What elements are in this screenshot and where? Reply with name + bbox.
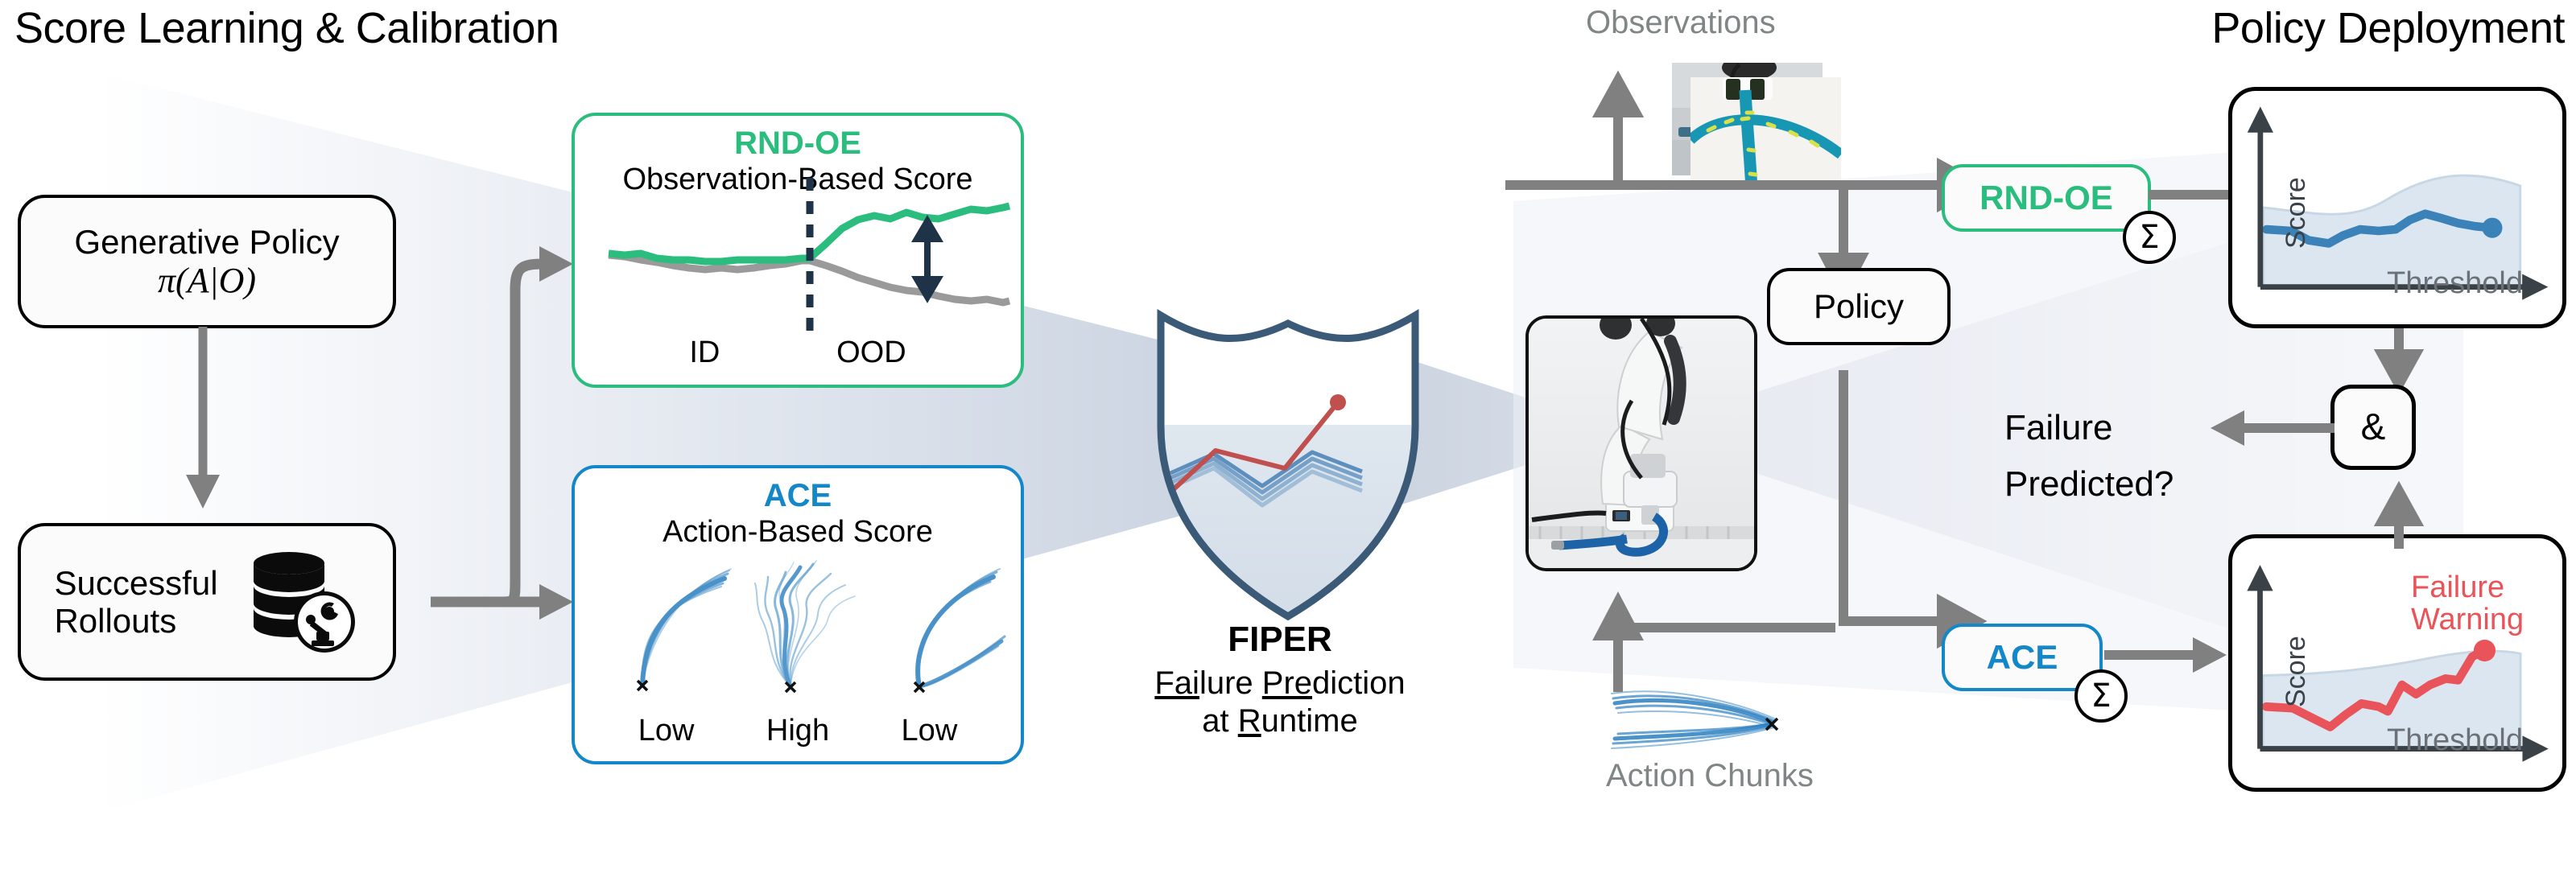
- nominal-y-axis-label: Score: [2281, 177, 2312, 249]
- and-gate-label: &: [2361, 406, 2386, 448]
- generative-policy-label: Generative Policy: [74, 223, 339, 261]
- successful-rollouts-box[interactable]: Successful Rollouts: [18, 523, 396, 681]
- and-gate-box[interactable]: &: [2330, 385, 2416, 470]
- score-panel-rnd-oe-subtitle: Observation-Based Score: [575, 163, 1021, 197]
- failure-predicted-line2: Predicted?: [2004, 463, 2173, 505]
- score-panel-rnd-oe[interactable]: RND-OE Observation-Based Score ID OOD: [572, 113, 1024, 388]
- score-panel-ace-title: ACE: [575, 478, 1021, 514]
- fiper-name: FIPER: [1095, 620, 1465, 660]
- failure-warning-label: Failure Warning Failure Warning: [2411, 572, 2524, 636]
- figure-canvas: Score Learning & Calibration Policy Depl…: [0, 0, 2576, 869]
- badge-ace-label: ACE: [1987, 638, 2058, 677]
- fiper-expansion: Failure Predictionat Runtime: [1095, 665, 1465, 740]
- deployment-policy-label: Policy: [1814, 287, 1904, 325]
- database-robot-icon: [239, 546, 360, 658]
- observations-caption: Observations: [1586, 5, 1776, 41]
- ace-foot-low-2: Low: [902, 714, 958, 748]
- deployment-chart-nominal[interactable]: Score Threshold: [2228, 87, 2566, 328]
- rnd-oe-chart: [575, 197, 1027, 332]
- rnd-oe-foot-ood: OOD: [836, 336, 906, 370]
- rollouts-label-line2: Rollouts: [54, 602, 217, 640]
- failure-y-axis-label: Score: [2281, 636, 2312, 707]
- failure-threshold-label: Threshold: [2387, 723, 2523, 758]
- score-panel-ace-subtitle: Action-Based Score: [575, 515, 1021, 550]
- ace-foot-low-1: Low: [638, 714, 695, 748]
- arrow-and-gate-to-question: [2182, 402, 2343, 459]
- rnd-oe-foot-id: ID: [689, 336, 720, 370]
- arrow-policy-to-rollouts: [161, 322, 258, 523]
- badge-rnd-oe-label: RND-OE: [1979, 179, 2113, 217]
- generative-policy-formula: π(A|O): [158, 261, 256, 300]
- failure-warning-line2: Warning: [2411, 604, 2524, 636]
- failure-predicted-question: Failure Predicted?: [2004, 393, 2173, 520]
- right-section-title: Policy Deployment: [2211, 3, 2565, 53]
- shield-icon: [1151, 306, 1425, 628]
- fiper-caption: FIPER Failure Predictionat Runtime: [1095, 620, 1465, 740]
- rollouts-label-line1: Successful: [54, 564, 217, 602]
- ace-foot-high: High: [766, 714, 829, 748]
- left-section-title: Score Learning & Calibration: [14, 3, 559, 53]
- failure-warning-line1: Failure: [2411, 572, 2524, 604]
- deployment-policy-box[interactable]: Policy: [1767, 268, 1951, 345]
- failure-predicted-line1: Failure: [2004, 407, 2173, 449]
- deployment-chart-failure[interactable]: Score Threshold Failure Warning Failure …: [2228, 534, 2566, 792]
- badge-rnd-oe[interactable]: RND-OE: [1942, 164, 2151, 232]
- nominal-threshold-label: Threshold: [2387, 266, 2523, 301]
- score-panel-rnd-oe-title: RND-OE: [575, 126, 1021, 162]
- ace-trajectory-chart: [575, 550, 1027, 707]
- score-panel-ace[interactable]: ACE Action-Based Score: [572, 465, 1024, 764]
- generative-policy-box[interactable]: Generative Policy π(A|O): [18, 195, 396, 328]
